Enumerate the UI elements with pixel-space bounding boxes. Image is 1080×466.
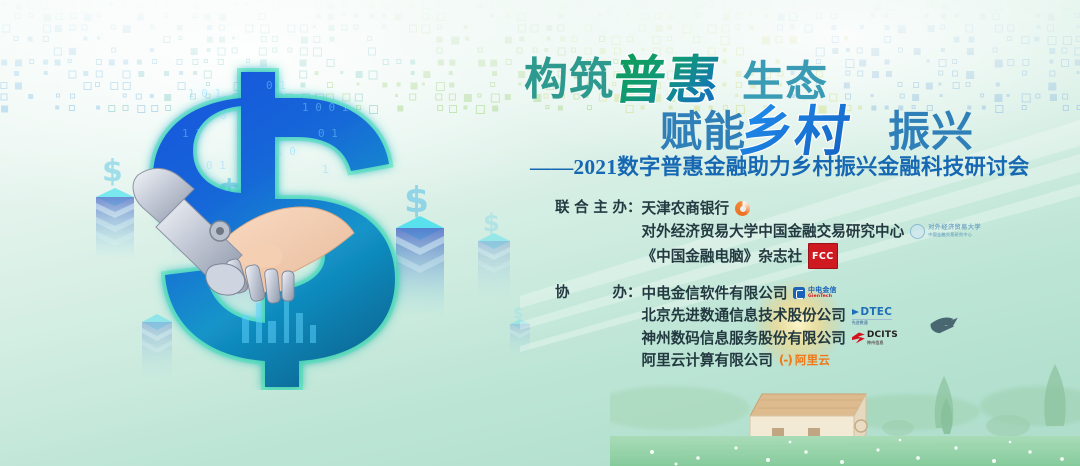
dcits-logo-text: DCITS 神州信息 [867,331,898,345]
svg-text:0: 0 [220,109,227,122]
dtec-logo-top: DTEC [852,307,892,318]
svg-text:1 0: 1 0 [276,145,296,158]
gientech-logo-sub: GienTech [808,295,837,300]
dtec-arrow-icon [852,309,859,315]
svg-text:0 1: 0 1 [266,79,286,92]
host-entries: 天津农商银行 对外经济贸易大学中国金融交易研究中心 对外经济贸易大学 中国金融交… [642,198,1080,271]
coorg-entry-dtec: 北京先进数通信息技术股份公司 DTEC 先进数通 [642,305,1080,326]
uibe-seal-icon [910,224,925,239]
coorg-entry-name: 中电金信软件有限公司 [642,283,788,304]
host-entry-fcc-magazine: 《中国金融电脑》杂志社 FCC [642,243,1080,269]
dtec-logo-name: DTEC [860,307,892,318]
dtec-logo-sub: 先进数通 [852,319,892,325]
coorg-entry-dcits: 神州数码信息服务股份有限公司 DCITS 神州信息 [642,328,1080,349]
host-entry-name: 对外经济贸易大学中国金融交易研究中心 [642,221,905,242]
svg-text:1 0 0 1: 1 0 0 1 [302,101,348,114]
svg-text:$: $ [102,154,123,189]
uibe-logo-text: 对外经济贸易大学 中国金融交易研究中心 [928,225,981,237]
svg-text:0 1: 0 1 [318,127,338,140]
page-title: 构筑 普惠 生态 赋能 乡村 振兴 [520,46,1080,154]
dtec-logo: DTEC 先进数通 [852,307,892,325]
gientech-logo-text: 中电金信 GienTech [808,287,837,300]
dcits-logo: DCITS 神州信息 [852,331,898,345]
svg-text:构筑: 构筑 [524,54,614,105]
coorganizer-entries: 中电金信软件有限公司 中电金信 GienTech 北京先进数通信息技术股份公司 [642,283,1080,373]
coorg-entry-name: 神州数码信息服务股份有限公司 [642,328,846,349]
event-banner: $ $ [0,0,1080,466]
dollar-handshake-artwork: $ $ [70,45,540,390]
svg-text:0 1: 0 1 [206,159,226,172]
host-entry-name: 天津农商银行 [642,198,730,219]
uibe-logo-name: 对外经济贸易大学 [928,225,981,231]
tianjin-rural-bank-logo [735,201,750,216]
host-label: 联合主办 [555,198,627,219]
svg-text:1 0 1: 1 0 1 [188,87,221,100]
coorganizer-separator: ： [627,283,642,304]
coorg-entry-gientech: 中电金信软件有限公司 中电金信 GienTech [642,283,1080,304]
uibe-logo: 对外经济贸易大学 中国金融交易研究中心 [910,224,981,239]
svg-text:生态: 生态 [742,57,828,106]
aliyun-logo-name: 阿里云 [795,350,830,371]
text-content-block: 构筑 普惠 生态 赋能 乡村 振兴 ——2021数字普惠金融助力乡村振兴金融科技… [520,0,1080,466]
uibe-logo-sub: 中国金融交易研究中心 [928,233,981,237]
gientech-logo-name: 中电金信 [808,287,837,294]
aliyun-logo: (-) 阿里云 [779,350,830,371]
svg-text:赋能: 赋能 [660,107,746,156]
coorganizer-row: 协办 ： 中电金信软件有限公司 中电金信 GienTech [555,283,1080,373]
host-entry-uibe: 对外经济贸易大学中国金融交易研究中心 对外经济贸易大学 中国金融交易研究中心 [642,221,1080,242]
gientech-logo: 中电金信 GienTech [793,287,836,300]
svg-text:$: $ [483,209,500,237]
fcc-logo: FCC [808,243,838,269]
dcits-swoosh-icon [852,332,865,343]
svg-text:1: 1 [322,163,329,176]
coorg-entry-aliyun: 阿里云计算有限公司 (-) 阿里云 [642,350,1080,371]
dcits-logo-sub: 神州信息 [867,341,898,345]
svg-text:$: $ [404,180,429,221]
host-separator: ： [627,198,642,219]
host-entry-tianjin-bank: 天津农商银行 [642,198,1080,219]
svg-text:1 1: 1 1 [182,127,202,140]
svg-text:振兴: 振兴 [888,107,974,156]
coorg-entry-name: 北京先进数通信息技术股份公司 [642,305,846,326]
organizers-block: 联合主办 ： 天津农商银行 对外经济贸易大学中国金融交易研究中心 对外经济贸易大… [555,198,1080,374]
coorg-entry-name: 阿里云计算有限公司 [642,350,773,371]
host-row: 联合主办 ： 天津农商银行 对外经济贸易大学中国金融交易研究中心 对外经济贸易大… [555,198,1080,271]
dcits-logo-name: DCITS [867,331,898,340]
gientech-mark-icon [793,287,805,299]
coorganizer-label: 协办 [555,283,627,304]
event-subtitle: ——2021数字普惠金融助力乡村振兴金融科技研讨会 [530,150,1075,181]
host-entry-name: 《中国金融电脑》杂志社 [642,246,803,267]
aliyun-bracket-icon: (-) [779,350,792,371]
svg-text:普惠: 普惠 [610,51,723,111]
